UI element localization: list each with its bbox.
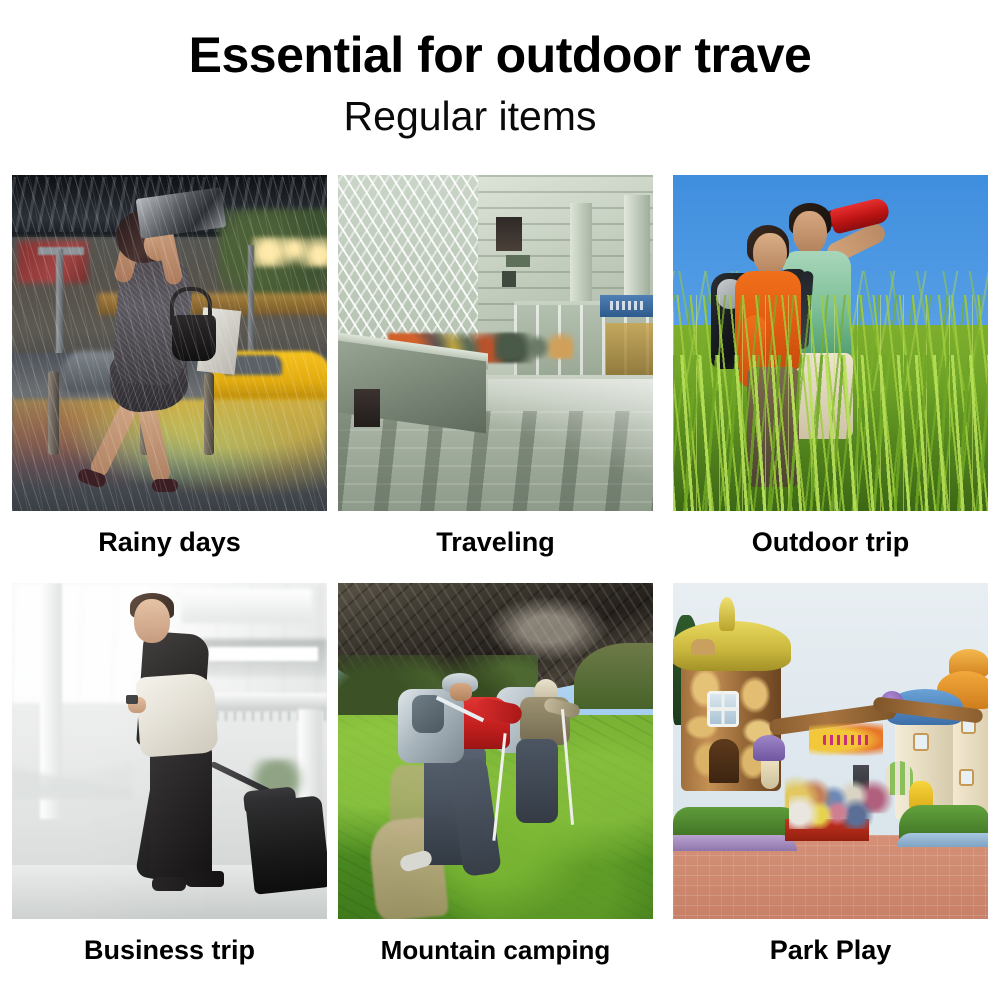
- caption-park-play: Park Play: [673, 933, 988, 967]
- purple-mushroom-cap: [753, 735, 785, 761]
- motion-blur-overlay: [12, 583, 327, 919]
- mushroom-house-window: [913, 733, 929, 751]
- man-head: [793, 211, 827, 255]
- photo-rainy-days[interactable]: [12, 175, 327, 511]
- gallery-item-mountain-camping[interactable]: Mountain camping: [338, 583, 653, 967]
- kerb-left: [673, 835, 797, 851]
- gallery-item-park-play[interactable]: Park Play: [673, 583, 988, 967]
- photo-mountain-camping[interactable]: [338, 583, 653, 919]
- page-title: Essential for outdoor trave: [0, 26, 1000, 84]
- caption-mountain-camping: Mountain camping: [338, 933, 653, 967]
- archway-sign-lettering: [823, 735, 871, 745]
- floor-gloss-reflection: [488, 379, 653, 509]
- moving-walkway-end: [354, 389, 380, 427]
- photo-outdoor-trip[interactable]: [673, 175, 988, 511]
- caption-outdoor-trip: Outdoor trip: [673, 525, 988, 559]
- photo-park-play[interactable]: [673, 583, 988, 919]
- shop-sign-text: [610, 301, 646, 310]
- tree-house-dormer: [691, 639, 715, 655]
- grass-blades-foreground: [673, 355, 988, 511]
- visitors-walking: [789, 795, 875, 829]
- gallery-item-business-trip[interactable]: Business trip: [12, 583, 327, 967]
- tree-house-spire: [719, 597, 735, 631]
- woman-head: [753, 233, 787, 275]
- caption-business-trip: Business trip: [12, 933, 327, 967]
- passengers-center: [494, 333, 574, 359]
- shop-window-display: [606, 323, 653, 379]
- hanging-sign-secondary: [506, 255, 530, 267]
- photo-traveling[interactable]: [338, 175, 653, 511]
- rain-overlay: [12, 175, 327, 511]
- gallery-item-outdoor-trip[interactable]: Outdoor trip: [673, 175, 988, 559]
- hiker2-legs: [516, 739, 558, 823]
- hiker1-head: [450, 683, 472, 701]
- photo-business-trip[interactable]: [12, 583, 327, 919]
- poster-root: Essential for outdoor trave Regular item…: [0, 0, 1000, 1000]
- tree-house-window-mullions: [707, 691, 739, 727]
- hanging-sign-small: [502, 271, 516, 287]
- kerb-right: [897, 833, 988, 847]
- scenario-gallery: Rainy days: [12, 175, 988, 917]
- gallery-item-traveling[interactable]: Traveling: [338, 175, 653, 559]
- caption-traveling: Traveling: [338, 525, 653, 559]
- caption-rainy-days: Rainy days: [12, 525, 327, 559]
- page-subtitle: Regular items: [0, 92, 940, 140]
- gallery-item-rainy-days[interactable]: Rainy days: [12, 175, 327, 559]
- cliff-sunlit-face: [488, 597, 608, 661]
- tower-window-lower: [959, 769, 974, 786]
- tree-house-door: [709, 739, 739, 783]
- hanging-poster: [496, 217, 522, 251]
